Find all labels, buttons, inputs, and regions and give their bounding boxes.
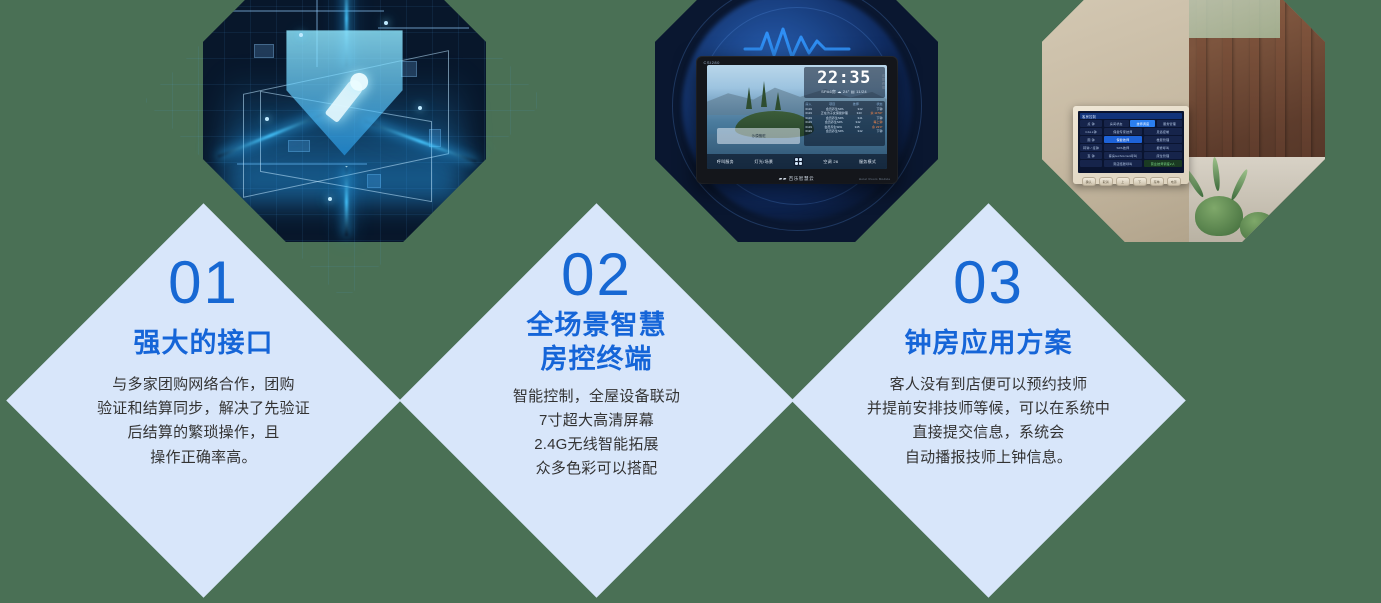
cell: 下钟 — [876, 129, 882, 134]
panel-description: 智能控制，全屋设备联动 7寸超大高清屏幕 2.4G无线智能拓展 众多色彩可以搭配 — [513, 384, 680, 481]
bottom-button-mode[interactable]: 服务模式 — [859, 159, 876, 165]
potted-plant — [1240, 212, 1276, 242]
panel-row[interactable]: 转钟 / 接钟 SPA技师 报修呼叫 — [1080, 144, 1182, 151]
panel-key-confirm[interactable]: 确认 — [1082, 177, 1096, 186]
cell: 342 — [858, 129, 863, 134]
panel-cell[interactable]: SPA技师 — [1104, 144, 1143, 151]
player-track-label: 沙漠骆驼 — [752, 134, 766, 139]
panel-key[interactable]: CALL钟 — [1080, 128, 1102, 135]
bottom-button-call[interactable]: 呼叫服务 — [717, 159, 734, 165]
clock-meta: SPA6房 ☁ 24° ▤ 11/24 — [821, 89, 867, 95]
panel-description: 客人没有到店便可以预约技师 并提前安排技师等候，可以在系统中 直接提交信息，系统… — [867, 372, 1110, 469]
cell: 会员养生SPA — [826, 129, 844, 134]
panel-tab[interactable]: 服务管理 — [1157, 120, 1182, 127]
panel-cell[interactable]: 保健专家技师 — [1104, 128, 1143, 135]
panel-key-up[interactable]: 上 — [1116, 177, 1130, 186]
panel-key[interactable]: 直 钟 — [1080, 152, 1102, 159]
panel-number: 03 — [953, 253, 1024, 313]
panel-row[interactable]: CALL钟 保健专家技师 足浴控制 — [1080, 128, 1182, 135]
heartbeat-icon — [743, 27, 851, 61]
pcb-chip — [254, 44, 274, 58]
bottom-button-ac[interactable]: 空调 26 — [823, 159, 838, 165]
panel-description: 与多家团购网络合作，团购 验证和结算同步，解决了先验证 后结算的繁琐操作，且 操… — [97, 372, 310, 469]
panel-title: 强大的接口 — [134, 327, 274, 361]
panel-cell-status[interactable]: 营业技师调度2人 — [1144, 160, 1183, 167]
panel-number: 02 — [561, 245, 632, 305]
panel-03-content: 03 钟房应用方案 客人没有到店便可以预约技师 并提前安排技师等候，可以在系统中… — [791, 203, 1186, 598]
cell: 0119 — [806, 129, 812, 134]
spark — [328, 197, 332, 201]
panel-cell[interactable]: 足浴控制 — [1144, 128, 1183, 135]
text-diamond-03[interactable]: 03 钟房应用方案 客人没有到店便可以预约技师 并提前安排技师等候，可以在系统中… — [791, 203, 1186, 598]
panel-screen[interactable]: 客房控制 点 钟 房间状态 技师调度 服务管理 CALL钟 保健专家技师 足浴控… — [1078, 111, 1184, 173]
panel-row[interactable]: 圈 钟 保健技师 楼层管理 — [1080, 136, 1182, 143]
panel-title-line1: 全场景智慧 — [527, 309, 667, 343]
panel-key-cancel[interactable]: 取消 — [1099, 177, 1113, 186]
panel-key-down[interactable]: 下 — [1133, 177, 1147, 186]
text-diamond-02[interactable]: 02 全场景智慧 房控终端 智能控制，全屋设备联动 7寸超大高清屏幕 2.4G无… — [399, 203, 794, 598]
spark — [299, 33, 303, 37]
tree-shape — [761, 81, 767, 107]
panel-tab-row[interactable]: 点 钟 房间状态 技师调度 服务管理 — [1080, 120, 1182, 127]
panel-cell[interactable]: 床位管理 — [1144, 152, 1183, 159]
pcb-trace — [220, 10, 384, 12]
clock-time: 22:35 — [817, 70, 871, 87]
panel-title-line2: 房控终端 — [541, 342, 653, 376]
wall-control-panel[interactable]: 客房控制 点 钟 房间状态 技师调度 服务管理 CALL钟 保健专家技师 足浴控… — [1073, 106, 1189, 184]
panel-cell[interactable]: 楼层管理 — [1144, 136, 1183, 143]
panel-row[interactable]: 直 钟 客房technician呼叫 床位管理 — [1080, 152, 1182, 159]
tree-shape — [775, 92, 781, 110]
panel-title: 钟房应用方案 — [905, 327, 1073, 361]
panel-cell[interactable]: 离店结账呼叫 — [1104, 160, 1143, 167]
image-diamond-spa-room: 客房控制 点 钟 房间状态 技师调度 服务管理 CALL钟 保健专家技师 足浴控… — [983, 0, 1381, 301]
panel-02-content: 02 全场景智慧 房控终端 智能控制，全屋设备联动 7寸超大高清屏幕 2.4G无… — [399, 203, 794, 598]
table-row: 0119 会员养生SPA 342 下钟 — [806, 129, 883, 134]
panel-key-menu[interactable]: 菜单 — [1150, 177, 1164, 186]
panel-cell-selected[interactable]: 保健技师 — [1104, 136, 1143, 143]
promo-banner: CSI280 ▰▰ 百乐智慧云 Hotel Room Module — [0, 0, 1381, 603]
security-image-content — [203, 0, 486, 242]
tablet-logo-small: Hotel Room Module — [859, 178, 891, 182]
service-table: 房入 项目 技师 状态 0119 会员养生SPA 342 下钟 — [804, 101, 885, 147]
panel-key-power[interactable]: 电源 — [1167, 177, 1181, 186]
panel-cell[interactable]: 客房technician呼叫 — [1104, 152, 1143, 159]
panel-key — [1080, 160, 1102, 167]
clock-widget: 22:35 SPA6房 ☁ 24° ▤ 11/24 — [804, 67, 885, 98]
panel-cell[interactable]: 报修呼叫 — [1144, 144, 1183, 151]
control-tablet[interactable]: CSI280 ▰▰ 百乐智慧云 Hotel Room Module — [697, 57, 897, 183]
panel-hardware-keys[interactable]: 确认 取消 上 下 菜单 电源 — [1078, 177, 1184, 186]
tablet-logo: ▰▰ 百乐智慧云 — [779, 176, 814, 182]
panel-number: 01 — [168, 253, 239, 313]
tablet-image-content: CSI280 ▰▰ 百乐智慧云 Hotel Room Module — [655, 0, 938, 242]
panel-tab[interactable]: 房间状态 — [1104, 120, 1129, 127]
panel-key[interactable]: 转钟 / 接钟 — [1080, 144, 1102, 151]
panel-title: 客房控制 — [1080, 113, 1182, 119]
tablet-bottom-bar[interactable]: 呼叫服务 灯光/场景 空调 26 服务模式 — [707, 154, 887, 170]
potted-plant — [1195, 196, 1243, 236]
media-player-bar[interactable]: 沙漠骆驼 — [717, 128, 800, 145]
tree-shape — [746, 87, 752, 109]
panel-row[interactable]: 离店结账呼叫 营业技师调度2人 — [1080, 160, 1182, 167]
light-beam — [345, 168, 348, 236]
tablet-screen[interactable]: 22:35 SPA6房 ☁ 24° ▤ 11/24 房入 项目 技师 状态 — [707, 65, 887, 169]
panel-key[interactable]: 圈 钟 — [1080, 136, 1102, 143]
wood-slat — [1302, 0, 1311, 174]
spa-room-scene: 客房控制 点 钟 房间状态 技师调度 服务管理 CALL钟 保健专家技师 足浴控… — [1042, 0, 1325, 242]
window — [1184, 0, 1280, 38]
tablet-scene: CSI280 ▰▰ 百乐智慧云 Hotel Room Module — [655, 0, 938, 242]
home-icon[interactable] — [794, 157, 803, 166]
spa-room-image-content: 客房控制 点 钟 房间状态 技师调度 服务管理 CALL钟 保健专家技师 足浴控… — [1042, 0, 1325, 242]
circuit-board-scene — [203, 0, 486, 242]
tablet-side-label: 房控终端 — [882, 74, 886, 90]
panel-tab-active[interactable]: 技师调度 — [1130, 120, 1155, 127]
bottom-button-light[interactable]: 灯光/场景 — [755, 159, 774, 165]
panel-key[interactable]: 点 钟 — [1080, 120, 1102, 127]
